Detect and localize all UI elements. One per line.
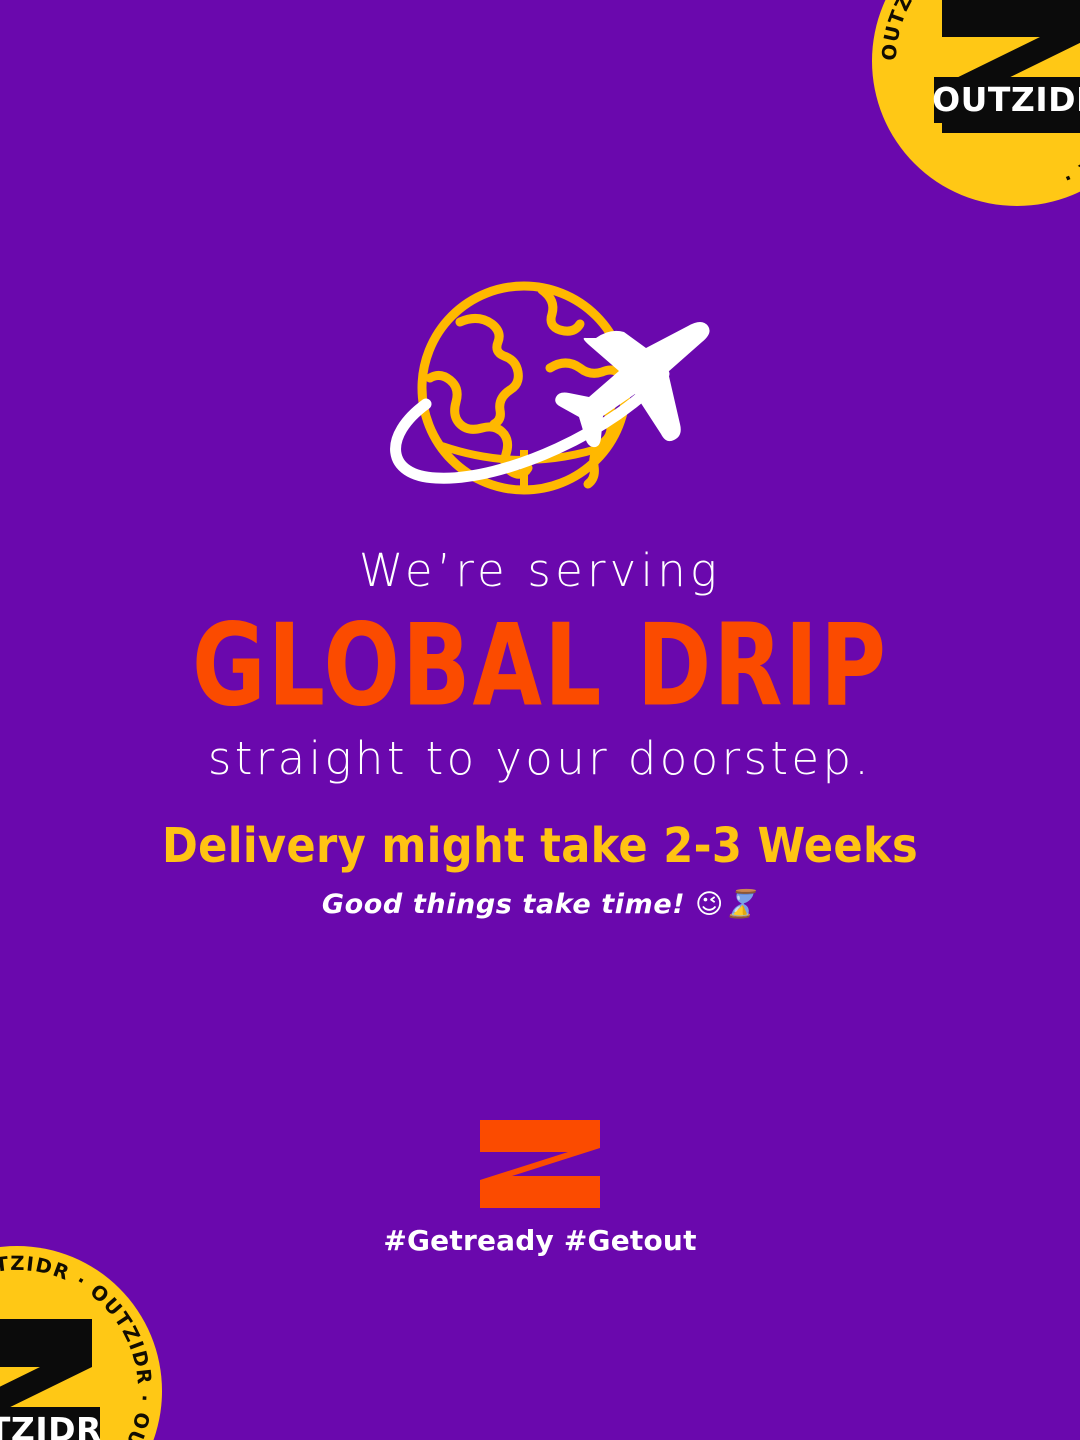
outzidr-z-mark: OUTZIDR	[928, 0, 1080, 141]
footer-hashtags: #Getready #Getout	[0, 1224, 1080, 1257]
outzidr-stamp-bottom-left: OUTZIDR · OUTZIDR · OUTZIDR · OUTZIDR · …	[0, 1246, 162, 1440]
globe-with-airplane-icon	[364, 278, 716, 510]
outzidr-z-logo	[478, 1118, 602, 1210]
outzidr-z-mark: OUTZIDR	[0, 1311, 106, 1440]
footer-brand-block: #Getready #Getout	[0, 1118, 1080, 1257]
badge-inner-label: OUTZIDR	[932, 80, 1080, 119]
airplane-icon	[555, 322, 709, 447]
poster-canvas: OUTZIDR · OUTZIDR · OUTZIDR · OUTZIDR · …	[0, 0, 1080, 1440]
copy-line-serving: We’re serving	[0, 546, 1080, 596]
badge-inner-label: OUTZIDR	[0, 1410, 102, 1440]
globe-airplane-graphic	[364, 278, 716, 510]
delivery-subtext: Good things take time! 😉⌛	[0, 890, 1080, 920]
delivery-note-block: Delivery might take 2-3 Weeks Good thing…	[0, 820, 1080, 919]
badge-core-logo-top-right: OUTZIDR	[928, 0, 1080, 141]
copy-headline: GLOBAL DRIP	[0, 610, 1080, 721]
copy-line-doorstep: straight to your doorstep.	[0, 734, 1080, 784]
delivery-headline: Delivery might take 2-3 Weeks	[0, 820, 1080, 874]
main-copy-block: We’re serving GLOBAL DRIP straight to yo…	[0, 546, 1080, 784]
z-mark-graphic	[478, 1118, 602, 1210]
outzidr-stamp-top-right: OUTZIDR · OUTZIDR · OUTZIDR · OUTZIDR · …	[872, 0, 1080, 206]
badge-core-logo-bottom-left: OUTZIDR	[0, 1311, 106, 1440]
